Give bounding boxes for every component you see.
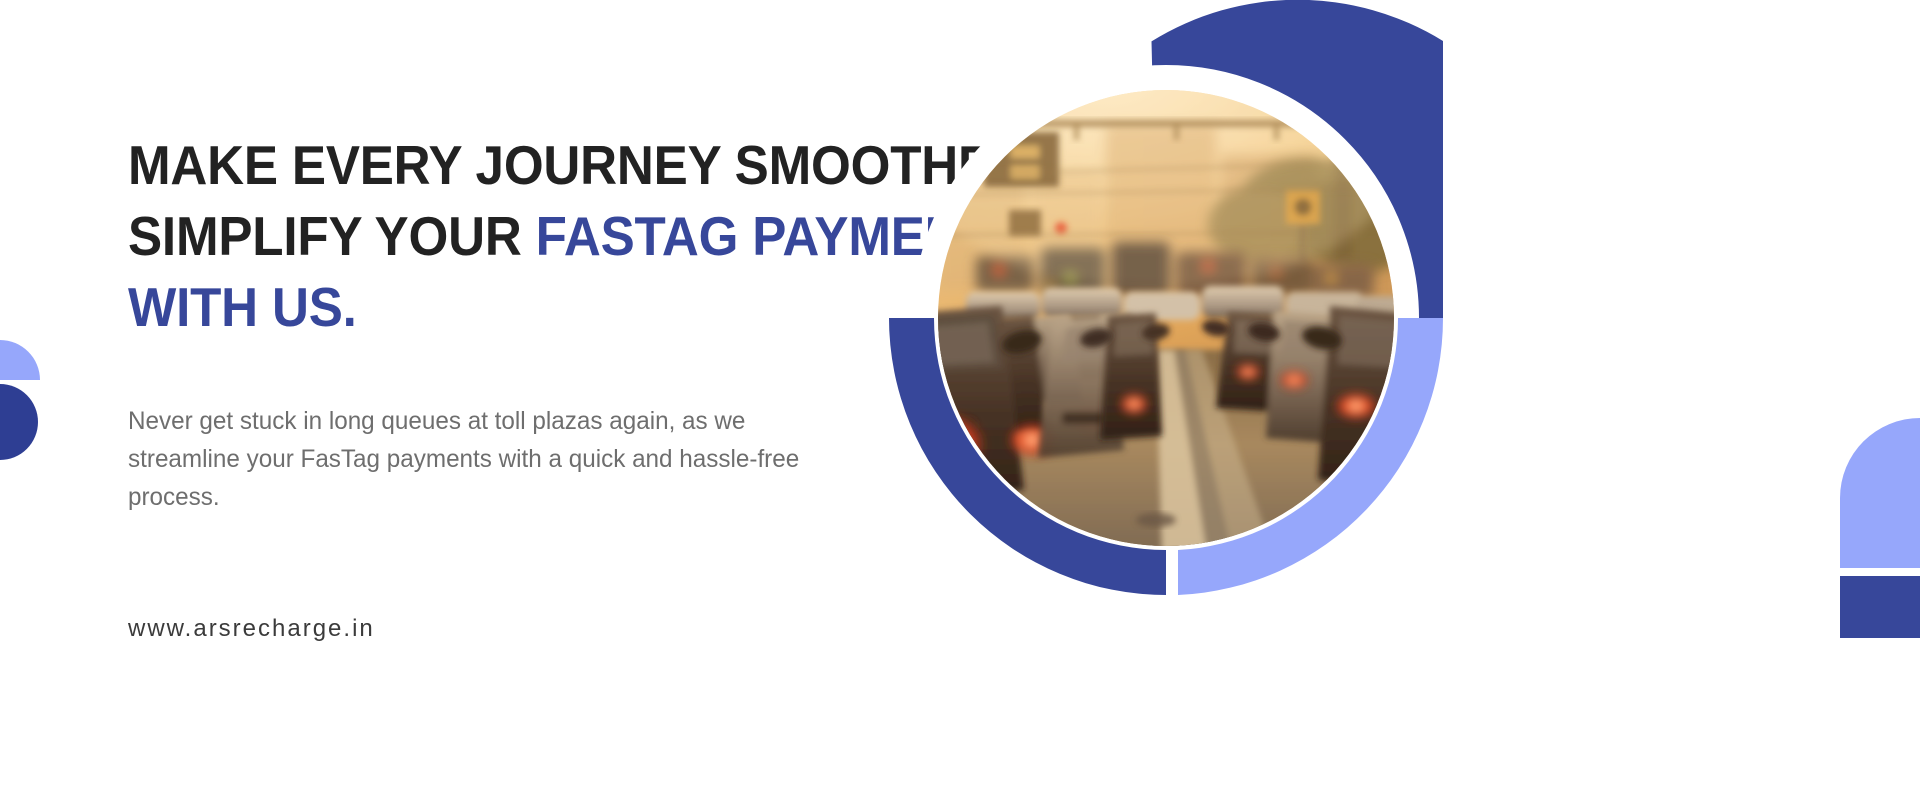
website-url[interactable]: www.arsrecharge.in [128, 615, 375, 643]
right-edge-decoration [1840, 418, 1920, 638]
right-deco-light-half-icon [1840, 418, 1920, 568]
headline-line-2-plain: SIMPLIFY YOUR [128, 205, 536, 267]
hero-circle-graphic [856, 20, 1476, 640]
hero-subtext: Never get stuck in long queues at toll p… [128, 402, 807, 516]
left-deco-dark-quarter-icon [0, 384, 38, 460]
headline-line-3-accent: WITH US. [128, 276, 357, 338]
right-deco-dark-block-icon [1840, 576, 1920, 638]
left-edge-decoration [0, 300, 40, 460]
fastag-promo-banner: MAKE EVERY JOURNEY SMOOTHER:SIMPLIFY YOU… [0, 0, 1920, 800]
left-deco-light-quarter-icon [0, 340, 40, 380]
